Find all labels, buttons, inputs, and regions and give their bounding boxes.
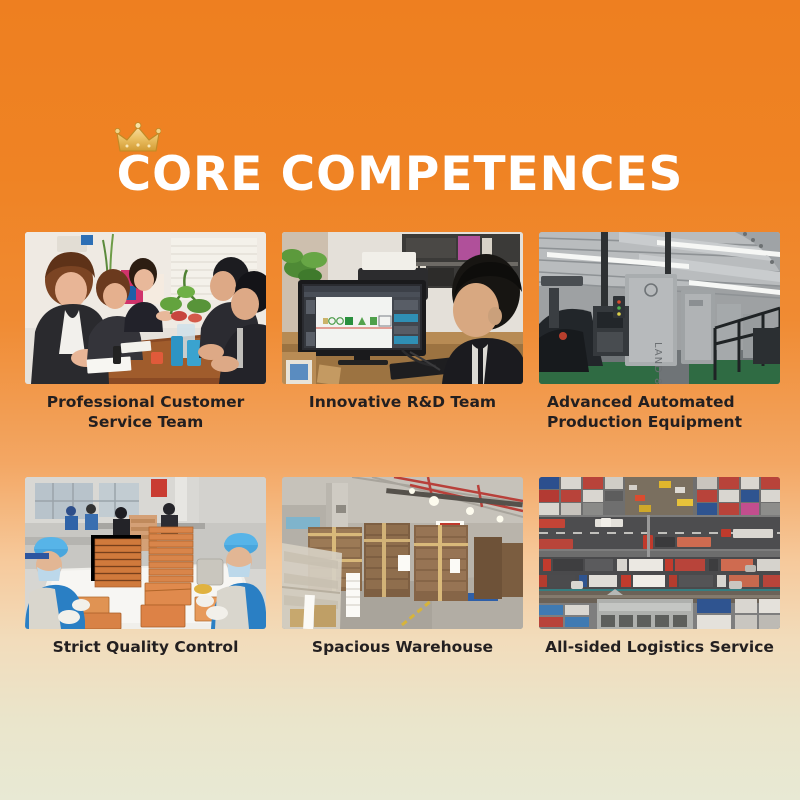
competence-card-spacious-warehouse[interactable]: Spacious Warehouse [282, 477, 523, 658]
spacious-warehouse-photo [282, 477, 523, 629]
row-spacer [539, 433, 780, 477]
strict-quality-control-photo [25, 477, 266, 629]
professional-customer-service-team-photo [25, 232, 266, 384]
competence-caption: Advanced Automated Production Equipment [539, 393, 780, 433]
competence-caption: Spacious Warehouse [282, 638, 523, 658]
all-sided-logistics-service-photo [539, 477, 780, 629]
competence-caption: Professional Customer Service Team [25, 393, 266, 433]
competence-card-innovative-rd-team[interactable]: Innovative R&D Team [282, 232, 523, 433]
row-spacer [25, 433, 266, 477]
page-title: CORE COMPETENCES [117, 147, 684, 202]
competence-caption: All-sided Logistics Service [539, 638, 780, 658]
competence-caption: Strict Quality Control [25, 638, 266, 658]
core-competences-banner: CORE COMPETENCES [0, 0, 800, 800]
competence-card-strict-quality-control[interactable]: Strict Quality Control [25, 477, 266, 658]
svg-text:LAND 800: LAND 800 [652, 342, 663, 384]
competence-card-advanced-automated-production-equipment[interactable]: LAND 800 [539, 232, 780, 433]
innovative-rd-team-photo [282, 232, 523, 384]
competences-grid: Professional Customer Service Team [25, 232, 777, 657]
title-block: CORE COMPETENCES [0, 150, 800, 199]
advanced-automated-production-equipment-photo: LAND 800 [539, 232, 780, 384]
row-spacer [282, 433, 523, 477]
competence-card-professional-customer-service-team[interactable]: Professional Customer Service Team [25, 232, 266, 433]
competence-caption: Innovative R&D Team [282, 393, 523, 413]
competence-card-all-sided-logistics-service[interactable]: All-sided Logistics Service [539, 477, 780, 658]
